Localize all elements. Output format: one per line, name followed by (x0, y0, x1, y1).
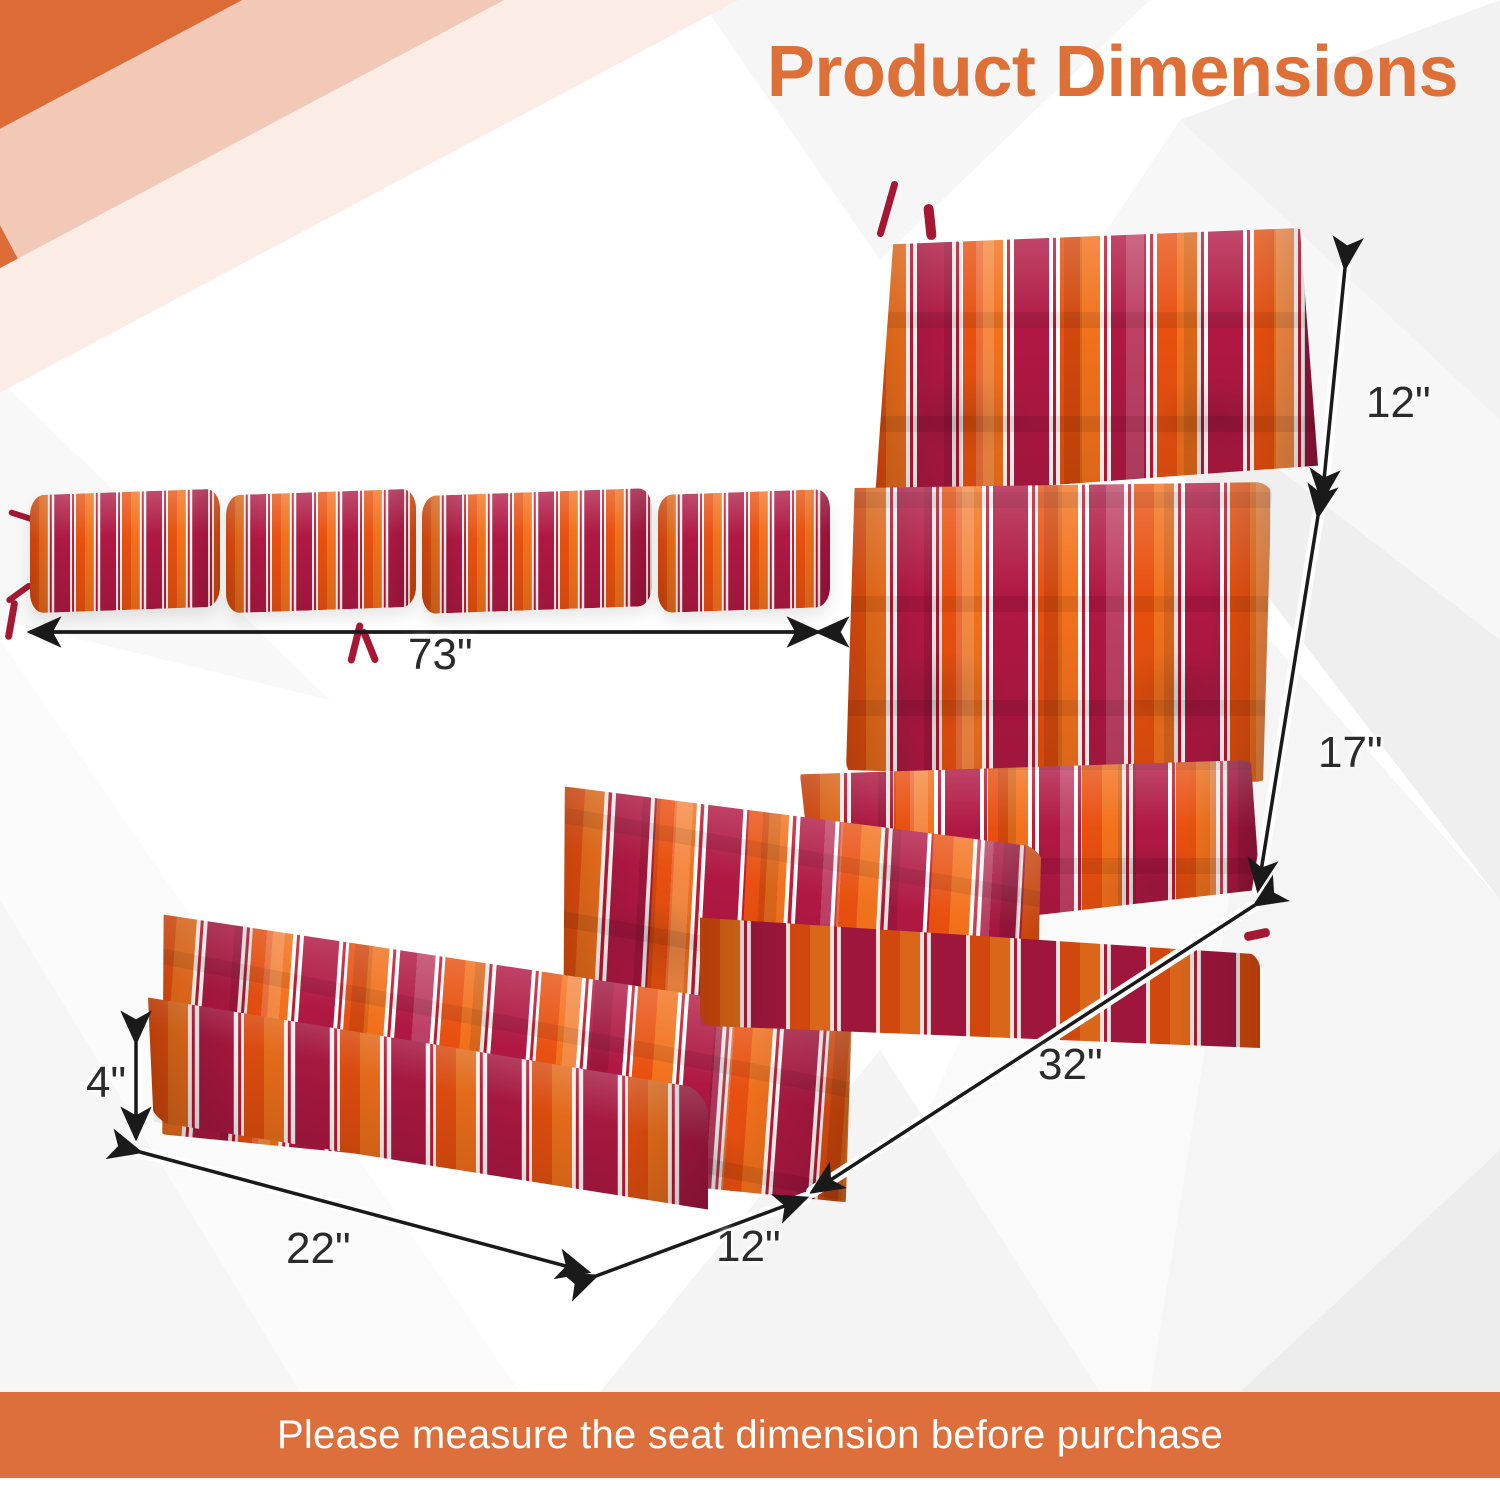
dimension-label-thickness: 4" (86, 1058, 126, 1108)
footer-banner: Please measure the seat dimension before… (0, 1392, 1500, 1478)
backrest-tie-loop (923, 204, 937, 241)
dimension-label-upper-backrest: 12" (1366, 378, 1431, 428)
dimension-label-flat-length: 73" (408, 630, 473, 680)
backrest-tie-left (876, 180, 899, 238)
dimension-label-lower-backrest: 17" (1318, 728, 1383, 778)
dimension-label-front-width: 22" (286, 1224, 351, 1274)
chaise-lounge-cushion-illustration (0, 0, 1500, 1500)
dimension-label-seat-length: 32" (1038, 1040, 1103, 1090)
infographic-canvas: Product Dimensions (0, 0, 1500, 1500)
backrest-lower-panel (846, 482, 1276, 782)
backrest-upper-panel (866, 228, 1318, 498)
dimension-label-front-depth: 12" (716, 1222, 781, 1272)
seat-tie-right (1243, 927, 1270, 941)
footer-banner-text: Please measure the seat dimension before… (277, 1413, 1223, 1458)
